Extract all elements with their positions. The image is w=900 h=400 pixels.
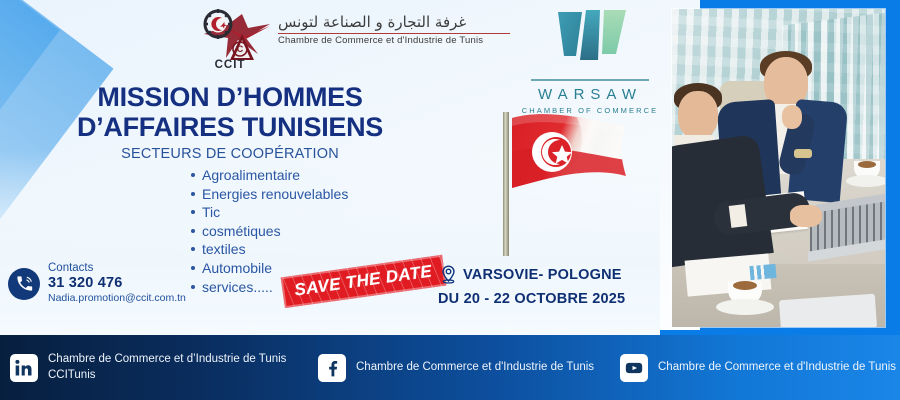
contacts-phone[interactable]: 31 320 476 [48, 275, 186, 292]
ccit-french-name: Chambre de Commerce et d'Industrie de Tu… [278, 35, 528, 46]
warsaw-name: WARSAW [516, 86, 664, 103]
sectors-subtitle: SECTEURS DE COOPÉRATION [0, 146, 460, 162]
event-banner: C CCIT غرفة التجارة و الصناعة لتونس Cham… [0, 0, 900, 400]
venue-city: VARSOVIE- POLOGNE [463, 267, 622, 283]
list-item: cosmétiques [202, 222, 348, 241]
social-bar: Chambre de Commerce et d’Industrie de Tu… [0, 335, 900, 400]
ccit-divider [278, 33, 510, 34]
social-link-youtube[interactable]: Chambre de Commerce et d'Industrie de Tu… [620, 354, 896, 382]
list-item: Agroalimentaire [202, 166, 348, 185]
social-label-facebook: Chambre de Commerce et d'Industrie de Tu… [356, 360, 594, 376]
title-line-1: MISSION D’HOMMES [0, 82, 460, 112]
venue-block: VARSOVIE- POLOGNE DU 20 - 22 OCTOBRE 202… [438, 264, 625, 307]
list-item: Energies renouvelables [202, 185, 348, 204]
title-line-2: D’AFFAIRES TUNISIENS [0, 112, 460, 142]
warsaw-w-mark [530, 8, 650, 70]
tunisia-poland-flag [486, 104, 636, 256]
list-item: textiles [202, 240, 348, 259]
list-item: Tic [202, 203, 348, 222]
location-pin-icon [438, 264, 459, 285]
social-link-linkedin[interactable]: Chambre de Commerce et d’Industrie de Tu… [10, 352, 288, 383]
phone-icon [8, 268, 40, 300]
contacts-email[interactable]: Nadia.promotion@ccit.com.tn [48, 292, 186, 305]
linkedin-icon[interactable] [10, 354, 38, 382]
social-link-facebook[interactable]: Chambre de Commerce et d'Industrie de Tu… [318, 354, 594, 382]
youtube-icon[interactable] [620, 354, 648, 382]
warsaw-divider [531, 79, 649, 81]
business-meeting-photo [672, 9, 885, 327]
contacts-label: Contacts [48, 262, 186, 275]
social-label-linkedin: Chambre de Commerce et d’Industrie de Tu… [48, 352, 288, 383]
page-title: MISSION D’HOMMES D’AFFAIRES TUNISIENS [0, 82, 460, 142]
social-label-youtube: Chambre de Commerce et d'Industrie de Tu… [658, 360, 896, 376]
ccit-arabic-name: غرفة التجارة و الصناعة لتونس [278, 14, 528, 31]
facebook-icon[interactable] [318, 354, 346, 382]
warsaw-logo: WARSAW CHAMBER OF COMMERCE [516, 8, 664, 96]
svg-text:C: C [237, 44, 244, 54]
venue-dates: DU 20 - 22 OCTOBRE 2025 [438, 291, 625, 307]
contacts-block: Contacts 31 320 476 Nadia.promotion@ccit… [8, 262, 186, 305]
ccit-logo: C CCIT [196, 8, 274, 70]
ccit-name-block: غرفة التجارة و الصناعة لتونس Chambre de … [278, 14, 528, 46]
ccit-monogram: CCIT [215, 59, 246, 70]
